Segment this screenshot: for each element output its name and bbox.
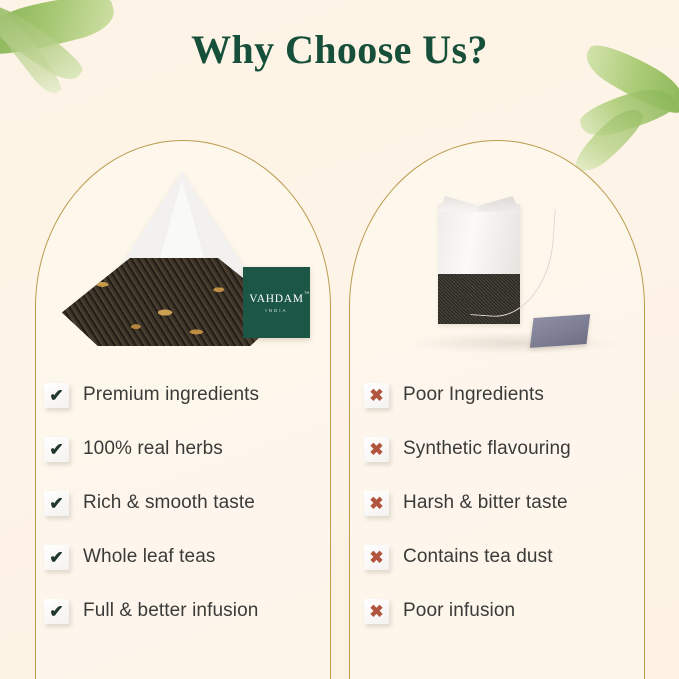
list-item: ✔ Premium ingredients xyxy=(44,368,259,422)
check-icon: ✔ xyxy=(44,437,69,462)
benefits-list: ✔ Premium ingredients ✔ 100% real herbs … xyxy=(44,368,259,638)
list-item: ✖ Harsh & bitter taste xyxy=(364,476,571,530)
check-icon: ✔ xyxy=(44,383,69,408)
list-item-label: 100% real herbs xyxy=(83,438,223,460)
list-item-label: Contains tea dust xyxy=(403,546,553,568)
cross-icon: ✖ xyxy=(364,383,389,408)
list-item: ✔ Whole leaf teas xyxy=(44,530,259,584)
list-item-label: Harsh & bitter taste xyxy=(403,492,568,514)
tea-bag-tag xyxy=(530,314,590,348)
cross-icon: ✖ xyxy=(364,491,389,516)
tea-bag-string xyxy=(470,203,556,320)
list-item: ✔ Rich & smooth taste xyxy=(44,476,259,530)
paper-tea-bag-image xyxy=(424,186,599,358)
cross-icon: ✖ xyxy=(364,437,389,462)
list-item-label: Synthetic flavouring xyxy=(403,438,571,460)
list-item: ✖ Poor Ingredients xyxy=(364,368,571,422)
list-item-label: Premium ingredients xyxy=(83,384,259,406)
page-title: Why Choose Us? xyxy=(0,26,679,73)
cross-icon: ✖ xyxy=(364,599,389,624)
brand-name-text: VAHDAM xyxy=(249,293,303,305)
list-item: ✔ Full & better infusion xyxy=(44,584,259,638)
list-item-label: Poor Ingredients xyxy=(403,384,544,406)
drawbacks-list: ✖ Poor Ingredients ✖ Synthetic flavourin… xyxy=(364,368,571,638)
brand-sub: INDIA xyxy=(265,308,287,313)
list-item: ✖ Poor infusion xyxy=(364,584,571,638)
list-item-label: Rich & smooth taste xyxy=(83,492,255,514)
check-icon: ✔ xyxy=(44,491,69,516)
check-icon: ✔ xyxy=(44,599,69,624)
tea-leaf-icon xyxy=(576,82,678,141)
cross-icon: ✖ xyxy=(364,545,389,570)
list-item: ✖ Contains tea dust xyxy=(364,530,571,584)
paper-bag-fold xyxy=(438,196,479,212)
check-icon: ✔ xyxy=(44,545,69,570)
brand-name: VAHDAM™ xyxy=(249,293,303,305)
list-item: ✖ Synthetic flavouring xyxy=(364,422,571,476)
infographic-canvas: Why Choose Us? VAHDAM™ INDIA ✔ Premium i… xyxy=(0,0,679,679)
list-item-label: Poor infusion xyxy=(403,600,515,622)
list-item-label: Whole leaf teas xyxy=(83,546,215,568)
trademark-icon: ™ xyxy=(304,292,310,297)
list-item-label: Full & better infusion xyxy=(83,600,258,622)
vahdam-logo: VAHDAM™ INDIA xyxy=(243,267,310,338)
tea-leaf-icon xyxy=(568,101,649,178)
list-item: ✔ 100% real herbs xyxy=(44,422,259,476)
